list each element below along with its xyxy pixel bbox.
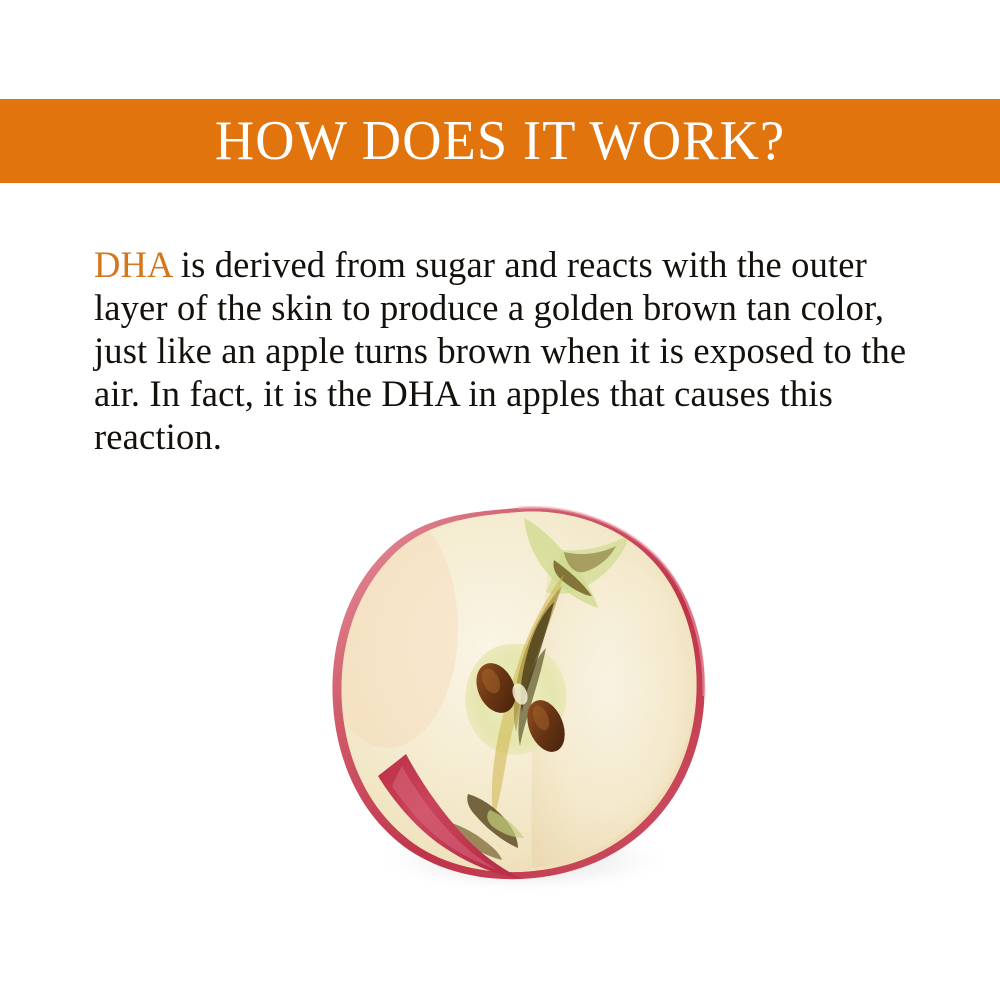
header-banner: HOW DOES IT WORK? bbox=[0, 99, 1000, 183]
dha-highlight-term: DHA bbox=[94, 244, 172, 285]
apple-illustration-svg bbox=[318, 498, 718, 898]
body-paragraph-rest: is derived from sugar and reacts with th… bbox=[94, 244, 906, 457]
page-title: HOW DOES IT WORK? bbox=[215, 113, 785, 169]
page-root: HOW DOES IT WORK? DHA is derived from su… bbox=[0, 0, 1000, 1000]
body-paragraph: DHA is derived from sugar and reacts wit… bbox=[94, 243, 924, 458]
halved-apple-image bbox=[318, 498, 718, 898]
